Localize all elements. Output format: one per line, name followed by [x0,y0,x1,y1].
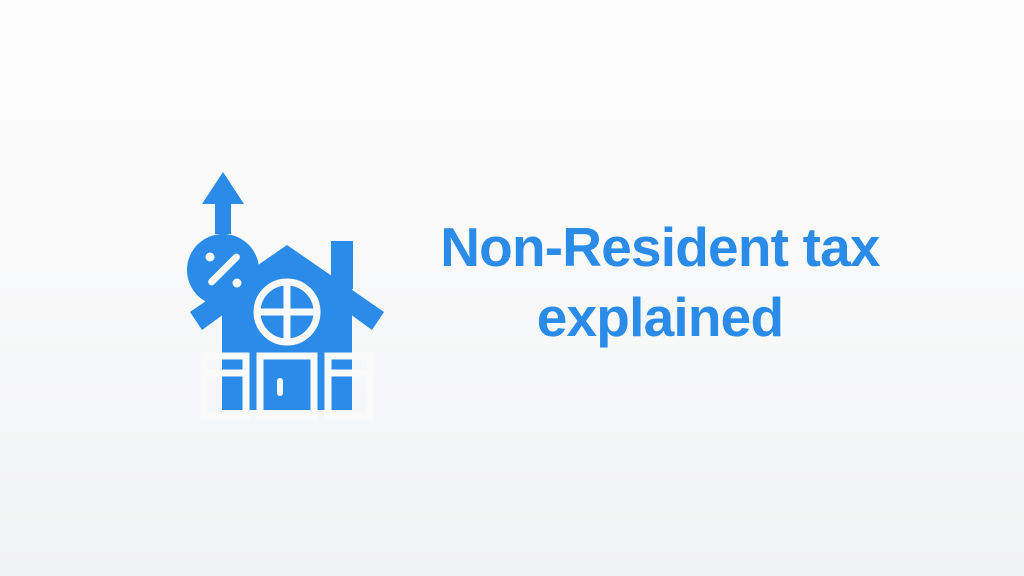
round-window-cross-icon [257,282,317,342]
page-title-line-1: Non-Resident tax [404,212,916,282]
page-title-line-2: explained [404,282,916,352]
slide-canvas: Non-Resident tax explained [0,0,1024,576]
house-with-percent-arrow-icon [182,162,392,420]
house-icon-svg [182,162,392,420]
page-title: Non-Resident tax explained [404,212,916,352]
up-arrow-icon [202,172,244,234]
